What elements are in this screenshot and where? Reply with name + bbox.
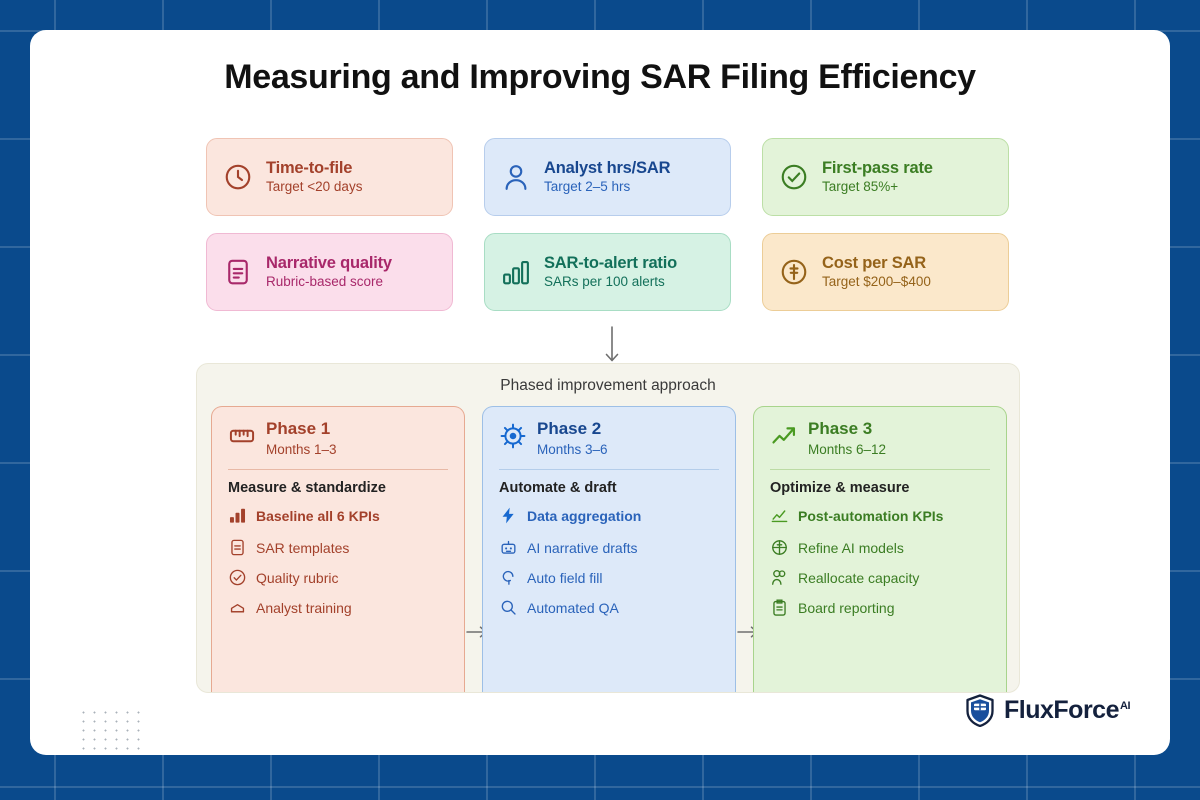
- logo-wordmark-text: FluxForce: [1004, 696, 1119, 724]
- ruler-icon: [228, 422, 256, 450]
- phases-panel: Phased improvement approach Phase 1 Mont…: [196, 363, 1020, 693]
- kpi-subtitle: Target 85%+: [822, 179, 933, 195]
- kpi-card-narrative-quality[interactable]: Narrative quality Rubric-based score: [206, 233, 453, 311]
- user-icon: [501, 162, 531, 192]
- kpi-title: Time-to-file: [266, 159, 362, 178]
- phase-months: Months 3–6: [537, 441, 608, 459]
- logo: FluxForceAI: [965, 694, 1130, 727]
- phase-item[interactable]: AI narrative drafts: [499, 538, 719, 557]
- document-lines-icon: [228, 538, 247, 557]
- bar-chart-icon: [501, 257, 531, 287]
- kpi-card-sar-to-alert-ratio[interactable]: SAR-to-alert ratio SARs per 100 alerts: [484, 233, 731, 311]
- graduation-cap-icon: [228, 598, 247, 617]
- search-icon: [499, 598, 518, 617]
- item-label: Reallocate capacity: [798, 570, 919, 586]
- phase-card-2[interactable]: Phase 2 Months 3–6 Automate & draft Data…: [482, 406, 736, 693]
- phase-header: Phase 3 Months 6–12: [770, 420, 990, 458]
- globe-anchor-icon: [770, 538, 789, 557]
- dot-grid-decoration: [78, 708, 146, 755]
- phase-item[interactable]: Refine AI models: [770, 538, 990, 557]
- phases-heading: Phased improvement approach: [197, 377, 1019, 395]
- phase-item[interactable]: Automated QA: [499, 598, 719, 617]
- phase-highlight-item[interactable]: Baseline all 6 KPIs: [228, 506, 448, 525]
- item-label: Refine AI models: [798, 540, 904, 556]
- phase-card-3[interactable]: Phase 3 Months 6–12 Optimize & measure P…: [753, 406, 1007, 693]
- item-label: Quality rubric: [256, 570, 338, 586]
- kpi-card-first-pass-rate[interactable]: First-pass rate Target 85%+: [762, 138, 1009, 216]
- line-chart-icon: [770, 506, 789, 525]
- check-circle-icon: [228, 568, 247, 587]
- kpi-card-grid: Time-to-file Target <20 days Analyst hrs…: [206, 138, 1009, 311]
- highlight-label: Data aggregation: [527, 508, 641, 524]
- item-label: Analyst training: [256, 600, 352, 616]
- phase-card-1[interactable]: Phase 1 Months 1–3 Measure & standardize…: [211, 406, 465, 693]
- item-label: AI narrative drafts: [527, 540, 638, 556]
- kpi-subtitle: Rubric-based score: [266, 274, 392, 290]
- phase-header: Phase 1 Months 1–3: [228, 420, 448, 458]
- shield-logo-icon: [965, 694, 995, 727]
- currency-circle-icon: [779, 257, 809, 287]
- divider: [499, 469, 719, 470]
- phase-highlight-item[interactable]: Post-automation KPIs: [770, 506, 990, 525]
- phase-months: Months 1–3: [266, 441, 337, 459]
- phase-item[interactable]: Quality rubric: [228, 568, 448, 587]
- phase-item[interactable]: Board reporting: [770, 598, 990, 617]
- phase-name: Phase 1: [266, 420, 337, 439]
- phase-subtitle: Automate & draft: [499, 480, 719, 496]
- check-circle-icon: [779, 162, 809, 192]
- item-label: Board reporting: [798, 600, 895, 616]
- phase-header: Phase 2 Months 3–6: [499, 420, 719, 458]
- phase-subtitle: Optimize & measure: [770, 480, 990, 496]
- robot-icon: [499, 538, 518, 557]
- kpi-title: Cost per SAR: [822, 254, 931, 273]
- kpi-card-analyst-hrs[interactable]: Analyst hrs/SAR Target 2–5 hrs: [484, 138, 731, 216]
- divider: [228, 469, 448, 470]
- people-icon: [770, 568, 789, 587]
- item-label: Auto field fill: [527, 570, 602, 586]
- down-arrow-icon: [600, 325, 624, 365]
- document-lines-icon: [223, 257, 253, 287]
- logo-superscript-text: AI: [1120, 700, 1130, 712]
- highlight-label: Baseline all 6 KPIs: [256, 508, 380, 524]
- kpi-title: SAR-to-alert ratio: [544, 254, 677, 273]
- phase-subtitle: Measure & standardize: [228, 480, 448, 496]
- kpi-title: Narrative quality: [266, 254, 392, 273]
- highlight-label: Post-automation KPIs: [798, 508, 943, 524]
- auto-fill-icon: [499, 568, 518, 587]
- phase-item[interactable]: SAR templates: [228, 538, 448, 557]
- phase-item[interactable]: Reallocate capacity: [770, 568, 990, 587]
- phase-name: Phase 2: [537, 420, 608, 439]
- kpi-title: First-pass rate: [822, 159, 933, 178]
- kpi-card-cost-per-sar[interactable]: Cost per SAR Target $200–$400: [762, 233, 1009, 311]
- clipboard-icon: [770, 598, 789, 617]
- slide-canvas: Measuring and Improving SAR Filing Effic…: [30, 30, 1170, 755]
- kpi-subtitle: Target $200–$400: [822, 274, 931, 290]
- kpi-card-time-to-file[interactable]: Time-to-file Target <20 days: [206, 138, 453, 216]
- clock-icon: [223, 162, 253, 192]
- phase-highlight-item[interactable]: Data aggregation: [499, 506, 719, 525]
- phase-months: Months 6–12: [808, 441, 886, 459]
- item-label: SAR templates: [256, 540, 349, 556]
- kpi-title: Analyst hrs/SAR: [544, 159, 670, 178]
- bolt-icon: [499, 506, 518, 525]
- phase-name: Phase 3: [808, 420, 886, 439]
- page-title: Measuring and Improving SAR Filing Effic…: [30, 58, 1170, 97]
- item-label: Automated QA: [527, 600, 619, 616]
- phase-item[interactable]: Auto field fill: [499, 568, 719, 587]
- kpi-subtitle: SARs per 100 alerts: [544, 274, 677, 290]
- target-icon: [499, 422, 527, 450]
- logo-wordmark-group: FluxForceAI: [1004, 696, 1130, 725]
- phase-item[interactable]: Analyst training: [228, 598, 448, 617]
- kpi-subtitle: Target 2–5 hrs: [544, 179, 670, 195]
- kpi-subtitle: Target <20 days: [266, 179, 362, 195]
- trending-up-icon: [770, 422, 798, 450]
- bar-chart-icon: [228, 506, 247, 525]
- divider: [770, 469, 990, 470]
